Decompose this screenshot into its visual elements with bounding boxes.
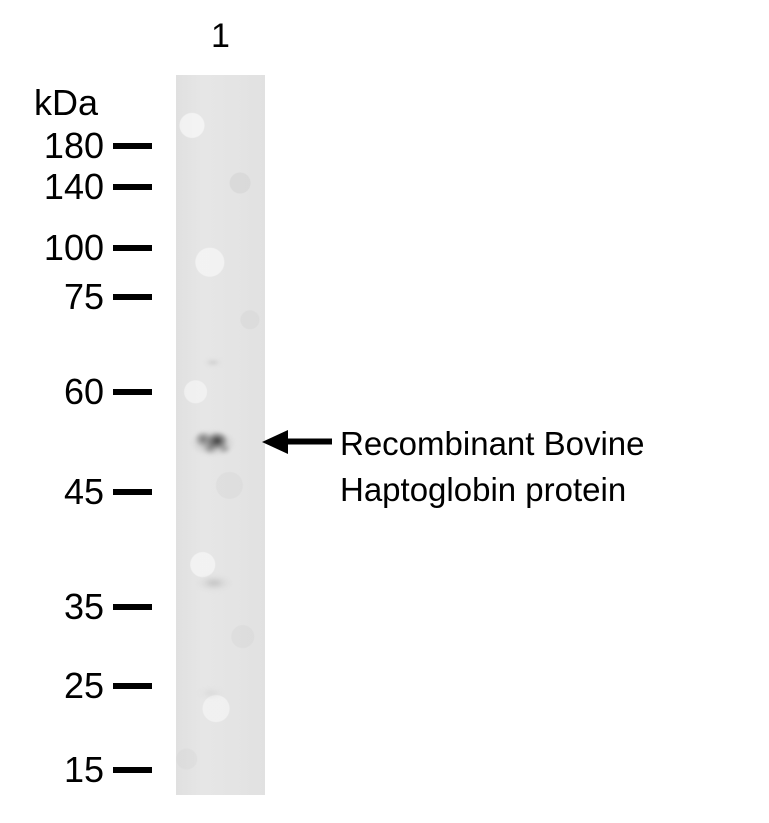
ladder-tick-icon-180 <box>113 143 152 149</box>
band-annotation-caption: Recombinant Bovine Haptoglobin protein <box>340 421 740 513</box>
ladder-tick-icon-45 <box>113 489 152 495</box>
blot-lane-strip <box>176 75 265 795</box>
target-protein-band <box>190 423 234 463</box>
ladder-label-100: 100 <box>0 228 113 268</box>
ladder-tick-icon-15 <box>113 767 152 773</box>
ladder-label-45: 45 <box>0 472 113 512</box>
ladder-tick-icon-35 <box>113 604 152 610</box>
annotation-line-2: Haptoglobin protein <box>340 467 740 513</box>
membrane-speck-lower <box>196 687 226 699</box>
ladder-mark-140: 140 <box>0 167 152 207</box>
ladder-label-75: 75 <box>0 277 113 317</box>
ladder-tick-icon-25 <box>113 683 152 689</box>
ladder-mark-180: 180 <box>0 126 152 166</box>
ladder-mark-15: 15 <box>0 750 152 790</box>
membrane-speck-upper <box>202 357 224 368</box>
lane-number-label: 1 <box>176 16 265 56</box>
ladder-mark-100: 100 <box>0 228 152 268</box>
faint-secondary-band <box>194 572 234 594</box>
ladder-tick-icon-60 <box>113 389 152 395</box>
western-blot-figure: 1 kDa 180 140 100 75 60 45 35 25 <box>0 0 769 823</box>
ladder-label-180: 180 <box>0 126 113 166</box>
ladder-tick-icon-75 <box>113 294 152 300</box>
ladder-mark-25: 25 <box>0 666 152 706</box>
ladder-mark-35: 35 <box>0 587 152 627</box>
ladder-mark-60: 60 <box>0 372 152 412</box>
ladder-label-25: 25 <box>0 666 113 706</box>
ladder-label-60: 60 <box>0 372 113 412</box>
ladder-label-35: 35 <box>0 587 113 627</box>
ladder-label-15: 15 <box>0 750 113 790</box>
ladder-mark-75: 75 <box>0 277 152 317</box>
ladder-tick-icon-140 <box>113 184 152 190</box>
annotation-line-1: Recombinant Bovine <box>340 421 740 467</box>
kda-units-caption: kDa <box>34 84 98 122</box>
ladder-mark-45: 45 <box>0 472 152 512</box>
ladder-label-140: 140 <box>0 167 113 207</box>
ladder-tick-icon-100 <box>113 245 152 251</box>
left-arrow-icon <box>262 430 332 454</box>
